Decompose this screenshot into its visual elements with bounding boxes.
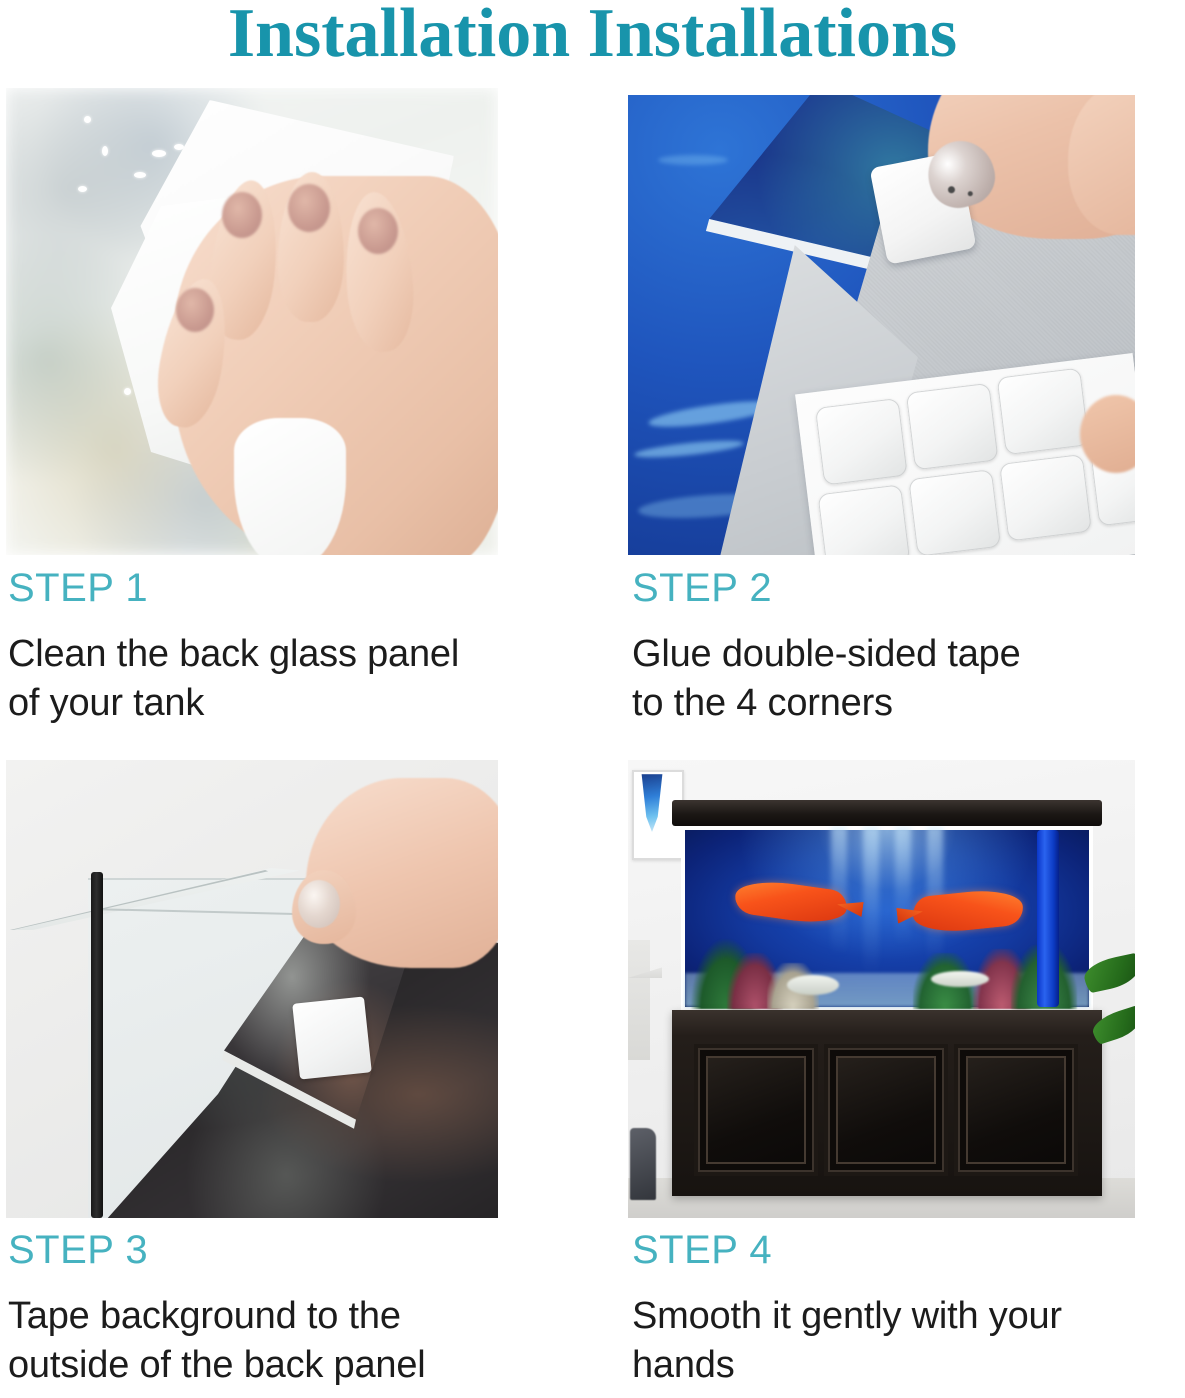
- blue-filter-tube: [1037, 830, 1059, 1007]
- step-3-label: STEP 3: [8, 1228, 148, 1273]
- cabinet-door-left[interactable]: [694, 1044, 818, 1176]
- water-speck: [124, 388, 131, 395]
- step-4-description-line-1: Smooth it gently with your: [632, 1292, 1177, 1341]
- light-ray: [863, 826, 879, 976]
- step-3-description-line-2: outside of the back panel: [8, 1341, 568, 1390]
- water-speck: [174, 144, 184, 150]
- step-4-label: STEP 4: [632, 1228, 772, 1273]
- tank-corner-trim: [91, 872, 103, 1218]
- glitter-fingernail: [298, 880, 340, 928]
- step-4-photo: [628, 760, 1135, 1218]
- step-2-description-line-2: to the 4 corners: [632, 679, 1177, 728]
- fingernail: [222, 192, 262, 238]
- water-speck: [134, 172, 146, 178]
- fingernail: [176, 288, 214, 332]
- tape-pad: [997, 368, 1090, 456]
- side-furniture: [628, 940, 650, 1060]
- step-2-label: STEP 2: [632, 566, 772, 611]
- tape-pad: [817, 484, 910, 555]
- tape-pad: [815, 398, 908, 486]
- step-3-photo: [6, 760, 498, 1218]
- fingernail: [288, 184, 330, 232]
- page-title: Installation Installations: [0, 0, 1185, 74]
- step-4-description-line-2: hands: [632, 1341, 1177, 1390]
- aquarium-cabinet: [672, 1010, 1102, 1196]
- step-1-description: Clean the back glass panel of your tank: [8, 630, 568, 728]
- fingernail: [358, 208, 398, 254]
- step-4-description: Smooth it gently with your hands: [632, 1292, 1177, 1390]
- step-3-description-line-1: Tape background to the: [8, 1292, 568, 1341]
- water-speck: [102, 146, 108, 156]
- tape-pad: [906, 383, 999, 471]
- cabinet-door-center[interactable]: [824, 1044, 948, 1176]
- cloth-fold-over-thumb: [234, 418, 346, 555]
- light-ray: [895, 826, 911, 946]
- white-rock: [787, 975, 839, 995]
- step-1-photo: [6, 88, 498, 555]
- aquarium-hood: [672, 800, 1102, 826]
- double-sided-tape-square: [292, 996, 372, 1079]
- aquarium-tank: [681, 826, 1093, 1011]
- floor-object: [630, 1128, 656, 1200]
- step-2-photo: [628, 95, 1135, 555]
- tape-pad: [999, 454, 1092, 542]
- water-speck: [84, 116, 91, 123]
- step-1-description-line-2: of your tank: [8, 679, 568, 728]
- water-ripple: [658, 155, 728, 165]
- step-1-label: STEP 1: [8, 566, 148, 611]
- water-speck: [78, 186, 87, 192]
- step-2-description: Glue double-sided tape to the 4 corners: [632, 630, 1177, 728]
- white-rock: [931, 971, 989, 987]
- water-speck: [152, 150, 166, 157]
- step-2-description-line-1: Glue double-sided tape: [632, 630, 1177, 679]
- tape-pad: [908, 469, 1001, 555]
- step-1-description-line-1: Clean the back glass panel: [8, 630, 568, 679]
- cabinet-door-right[interactable]: [954, 1044, 1078, 1176]
- step-3-description: Tape background to the outside of the ba…: [8, 1292, 568, 1390]
